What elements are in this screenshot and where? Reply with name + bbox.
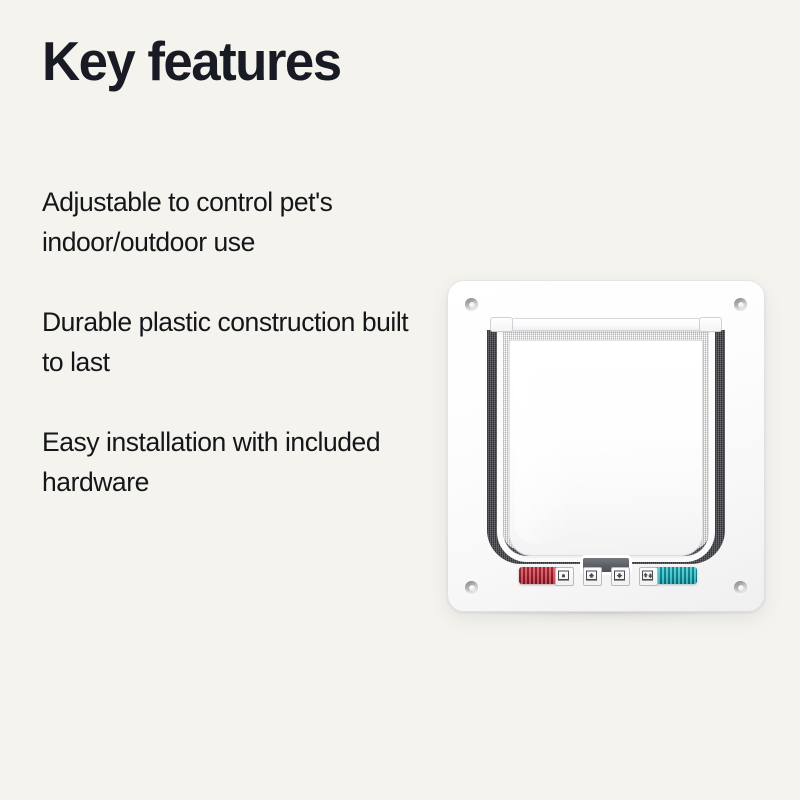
pet-door-flap <box>509 340 703 556</box>
key-features-panel: Key features Adjustable to control pet's… <box>0 0 800 800</box>
mode-icon-in-only <box>583 567 602 586</box>
mode-icon-locked <box>555 567 574 586</box>
flap-gloss <box>515 344 567 544</box>
page-title: Key features <box>42 28 341 94</box>
mode-indicator-row <box>447 567 765 586</box>
hinge-cap-left <box>490 317 513 332</box>
pet-door-opening <box>487 318 725 564</box>
product-image <box>440 272 776 622</box>
hinge-cap-right <box>699 317 722 332</box>
mode-icon-out-only <box>611 567 630 586</box>
screw-icon <box>734 298 747 311</box>
pet-door-frame <box>447 280 765 612</box>
feature-item: Adjustable to control pet's indoor/outdo… <box>42 182 432 262</box>
feature-list: Adjustable to control pet's indoor/outdo… <box>42 182 442 502</box>
mode-icon-in-and-out <box>639 567 658 586</box>
feature-item: Durable plastic construction built to la… <box>42 302 432 382</box>
screw-icon <box>465 298 478 311</box>
hinge-bar <box>493 318 719 331</box>
feature-item: Easy installation with included hardware <box>42 422 432 502</box>
